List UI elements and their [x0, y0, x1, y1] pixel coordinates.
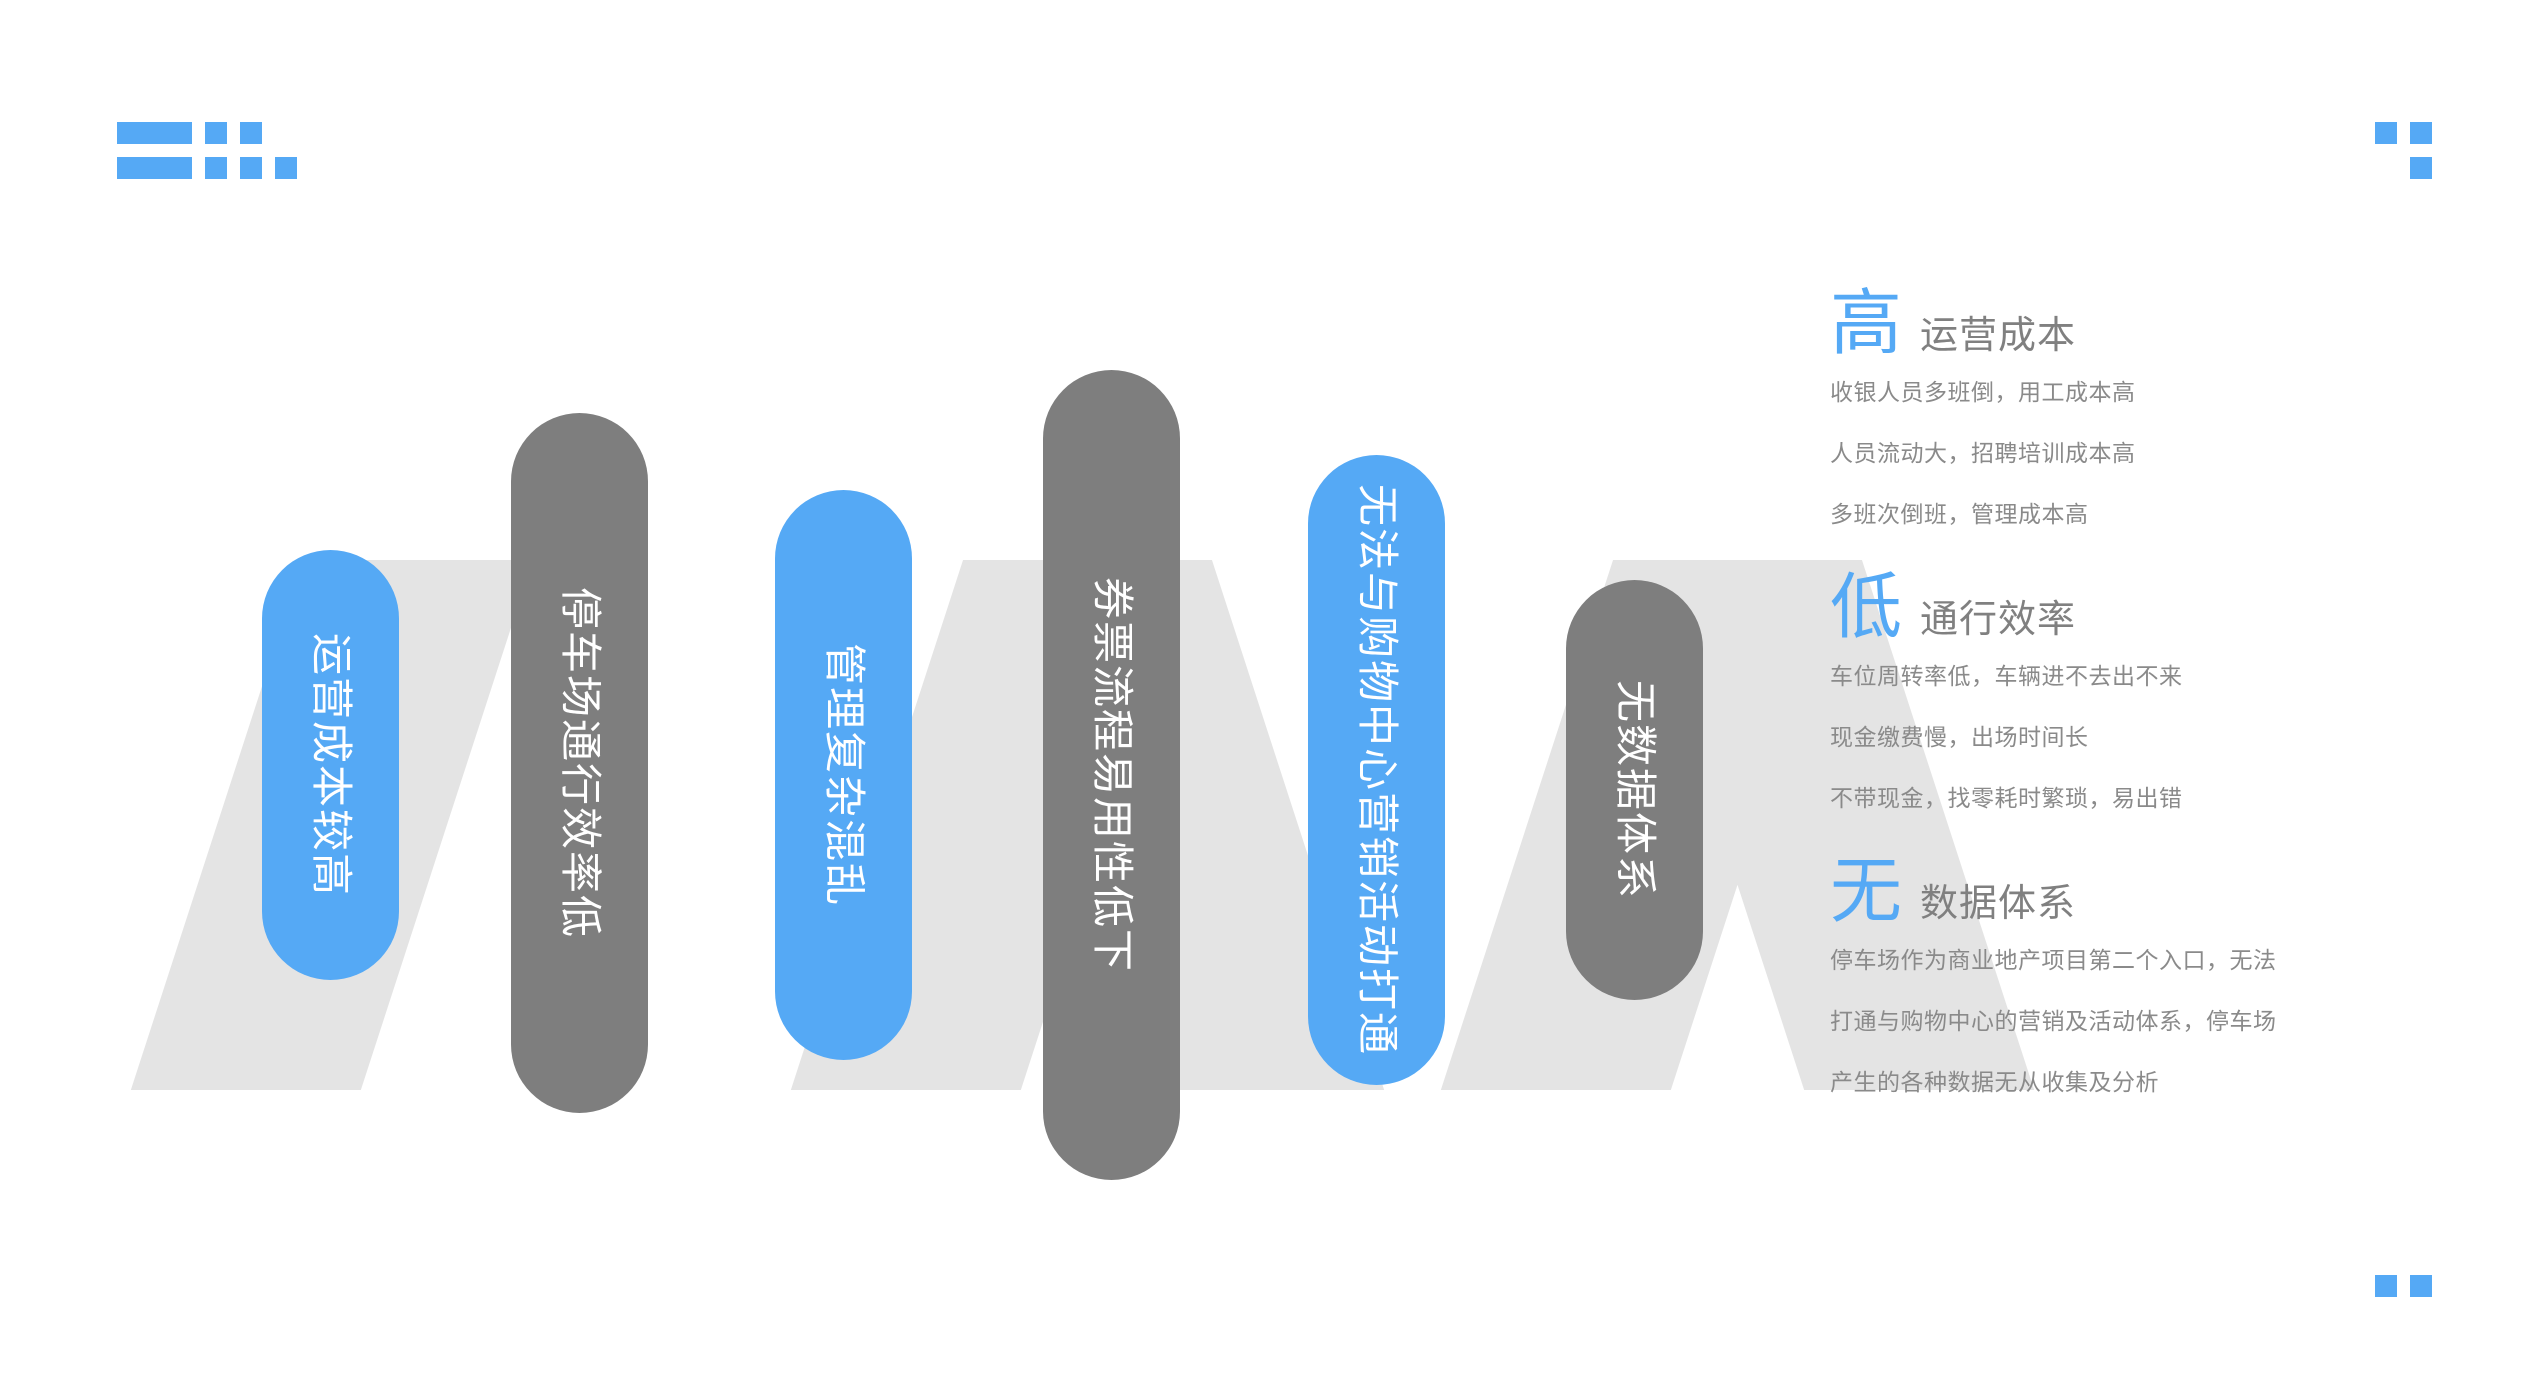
section-body-line: 多班次倒班，管理成本高 [1830, 503, 2470, 526]
slide-canvas: 运营成本较高 停车场通行效率低 管理复杂混乱 券票流程易用性低下 无法与购物中心… [0, 0, 2526, 1392]
pill-4-label: 券票流程易用性低下 [1091, 577, 1133, 973]
pill-5-label: 无法与购物中心营销活动打通 [1356, 484, 1398, 1056]
decoration-row [117, 122, 297, 144]
section-title: 数据体系 [1920, 872, 2076, 927]
pill-2[interactable]: 停车场通行效率低 [511, 413, 648, 1113]
decoration-square [2375, 122, 2397, 144]
decoration-square [205, 122, 227, 144]
section-body-line: 不带现金，找零耗时繁琐，易出错 [1830, 787, 2470, 810]
decoration-square [275, 157, 297, 179]
section-body-line: 人员流动大，招聘培训成本高 [1830, 442, 2470, 465]
decoration-row [2375, 122, 2432, 144]
decoration-square [240, 157, 262, 179]
pill-2-label: 停车场通行效率低 [559, 587, 601, 939]
decoration-bar [117, 157, 192, 179]
pill-3-label: 管理复杂混乱 [823, 643, 865, 907]
decoration-square [2410, 157, 2432, 179]
decoration-top-right [2375, 122, 2432, 179]
decoration-row [117, 157, 297, 179]
section-big-char: 无 [1830, 858, 1902, 926]
section-body-line: 收银人员多班倒，用工成本高 [1830, 381, 2470, 404]
decoration-square [205, 157, 227, 179]
section-title: 运营成本 [1920, 304, 2076, 359]
pill-1-label: 运营成本较高 [310, 633, 352, 897]
detail-section-data-system: 无 数据体系 停车场作为商业地产项目第二个入口，无法 打通与购物中心的营销及活动… [1830, 858, 2470, 1094]
decoration-row [2375, 1275, 2432, 1297]
section-body-line: 现金缴费慢，出场时间长 [1830, 726, 2470, 749]
decoration-top-left [117, 122, 297, 179]
pill-4[interactable]: 券票流程易用性低下 [1043, 370, 1180, 1180]
detail-section-operating-cost: 高 运营成本 收银人员多班倒，用工成本高 人员流动大，招聘培训成本高 多班次倒班… [1830, 290, 2470, 526]
section-big-char: 低 [1830, 574, 1902, 642]
decoration-square [2410, 1275, 2432, 1297]
decoration-bottom-right [2375, 1275, 2432, 1297]
section-body-line: 打通与购物中心的营销及活动体系，停车场 [1830, 1010, 2470, 1033]
section-heading: 低 通行效率 [1830, 574, 2470, 643]
detail-column: 高 运营成本 收银人员多班倒，用工成本高 人员流动大，招聘培训成本高 多班次倒班… [1830, 290, 2470, 1094]
detail-section-throughput: 低 通行效率 车位周转率低，车辆进不去出不来 现金缴费慢，出场时间长 不带现金，… [1830, 574, 2470, 810]
section-title: 通行效率 [1920, 588, 2076, 643]
decoration-bar [117, 122, 192, 144]
decoration-square [2410, 122, 2432, 144]
section-body-line: 停车场作为商业地产项目第二个入口，无法 [1830, 949, 2470, 972]
pill-6-label: 无数据体系 [1614, 680, 1656, 900]
section-heading: 无 数据体系 [1830, 858, 2470, 927]
pill-3[interactable]: 管理复杂混乱 [775, 490, 912, 1060]
section-body-line: 产生的各种数据无从收集及分析 [1830, 1071, 2470, 1094]
section-body-line: 车位周转率低，车辆进不去出不来 [1830, 665, 2470, 688]
pill-5[interactable]: 无法与购物中心营销活动打通 [1308, 455, 1445, 1085]
decoration-square [2375, 1275, 2397, 1297]
section-heading: 高 运营成本 [1830, 290, 2470, 359]
section-big-char: 高 [1830, 290, 1902, 358]
pill-1[interactable]: 运营成本较高 [262, 550, 399, 980]
decoration-row [2375, 157, 2432, 179]
pill-6[interactable]: 无数据体系 [1566, 580, 1703, 1000]
decoration-square [240, 122, 262, 144]
